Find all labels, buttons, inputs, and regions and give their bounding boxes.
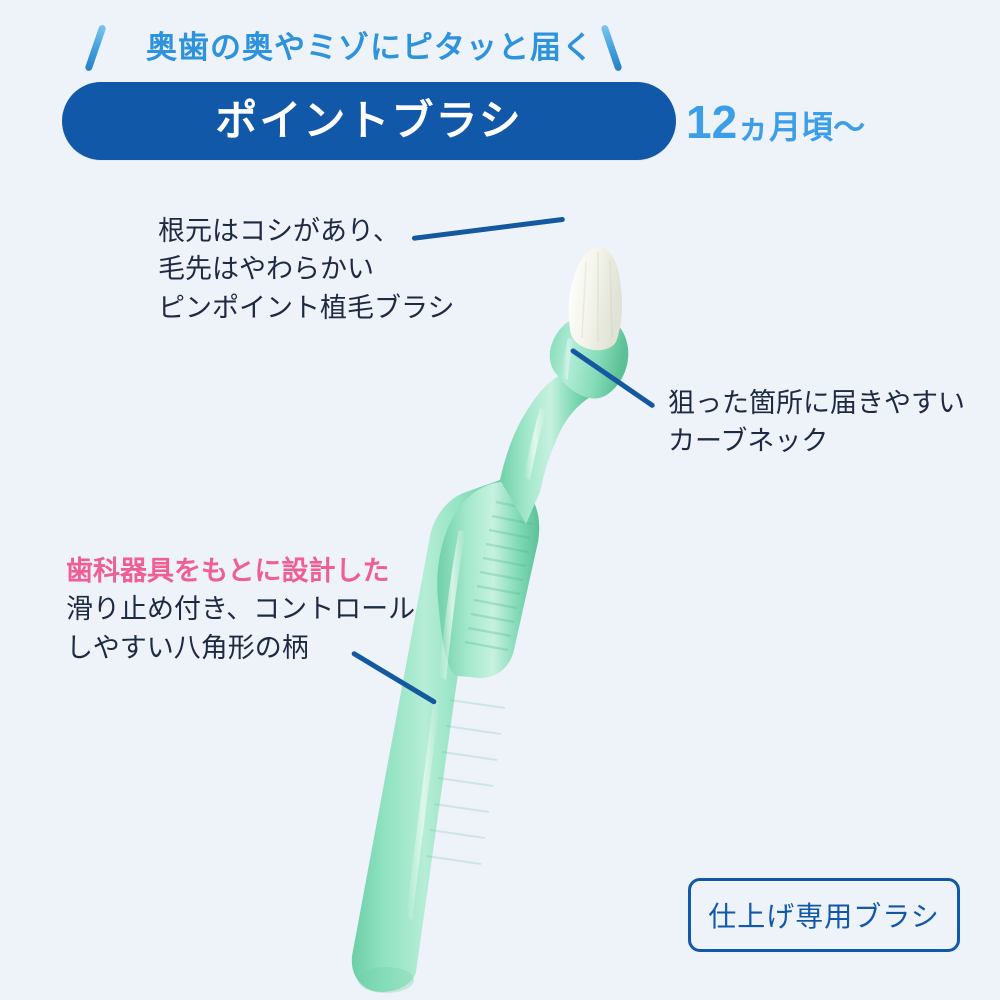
badge-label: 仕上げ専用ブラシ [708,895,939,935]
callout-bristles-line-1: 根元はコシがあり、 [158,212,454,250]
status-badge: 仕上げ専用ブラシ [688,878,960,952]
callout-bristles-line-3: ピンポイント植毛ブラシ [158,289,454,327]
callout-bristles: 根元はコシがあり、 毛先はやわらかい ピンポイント植毛ブラシ [158,212,454,327]
infographic-page: 奥歯の奥やミゾにピタッと届く ポイントブラシ 12ヵ月頃〜 [0,0,1000,1000]
age-number: 12 [686,96,737,148]
callout-handle: 歯科器具をもとに設計した 滑り止め付き、コントロール しやすい八角形の柄 [66,552,415,667]
callout-bristles-line-2: 毛先はやわらかい [158,250,454,288]
callout-neck-line-1: 狙った箇所に届きやすい [668,384,965,422]
handle-bottom-shading [358,967,414,993]
brush-curved-neck [500,372,592,524]
callout-neck: 狙った箇所に届きやすい カーブネック [668,384,965,461]
tagline: 奥歯の奥やミゾにピタッと届く [0,22,740,67]
callout-neck-line-2: カーブネック [668,422,965,460]
age-unit: ヵ月頃〜 [737,109,865,145]
brush-bristle-head [568,247,622,351]
age-indicator: 12ヵ月頃〜 [686,99,865,145]
product-title-pill: ポイントブラシ [62,82,676,160]
callout-handle-line-1: 滑り止め付き、コントロール [66,590,415,628]
page-title: ポイントブラシ [215,100,522,142]
callout-handle-highlight: 歯科器具をもとに設計した [66,552,415,590]
callout-handle-line-2: しやすい八角形の柄 [66,629,415,667]
